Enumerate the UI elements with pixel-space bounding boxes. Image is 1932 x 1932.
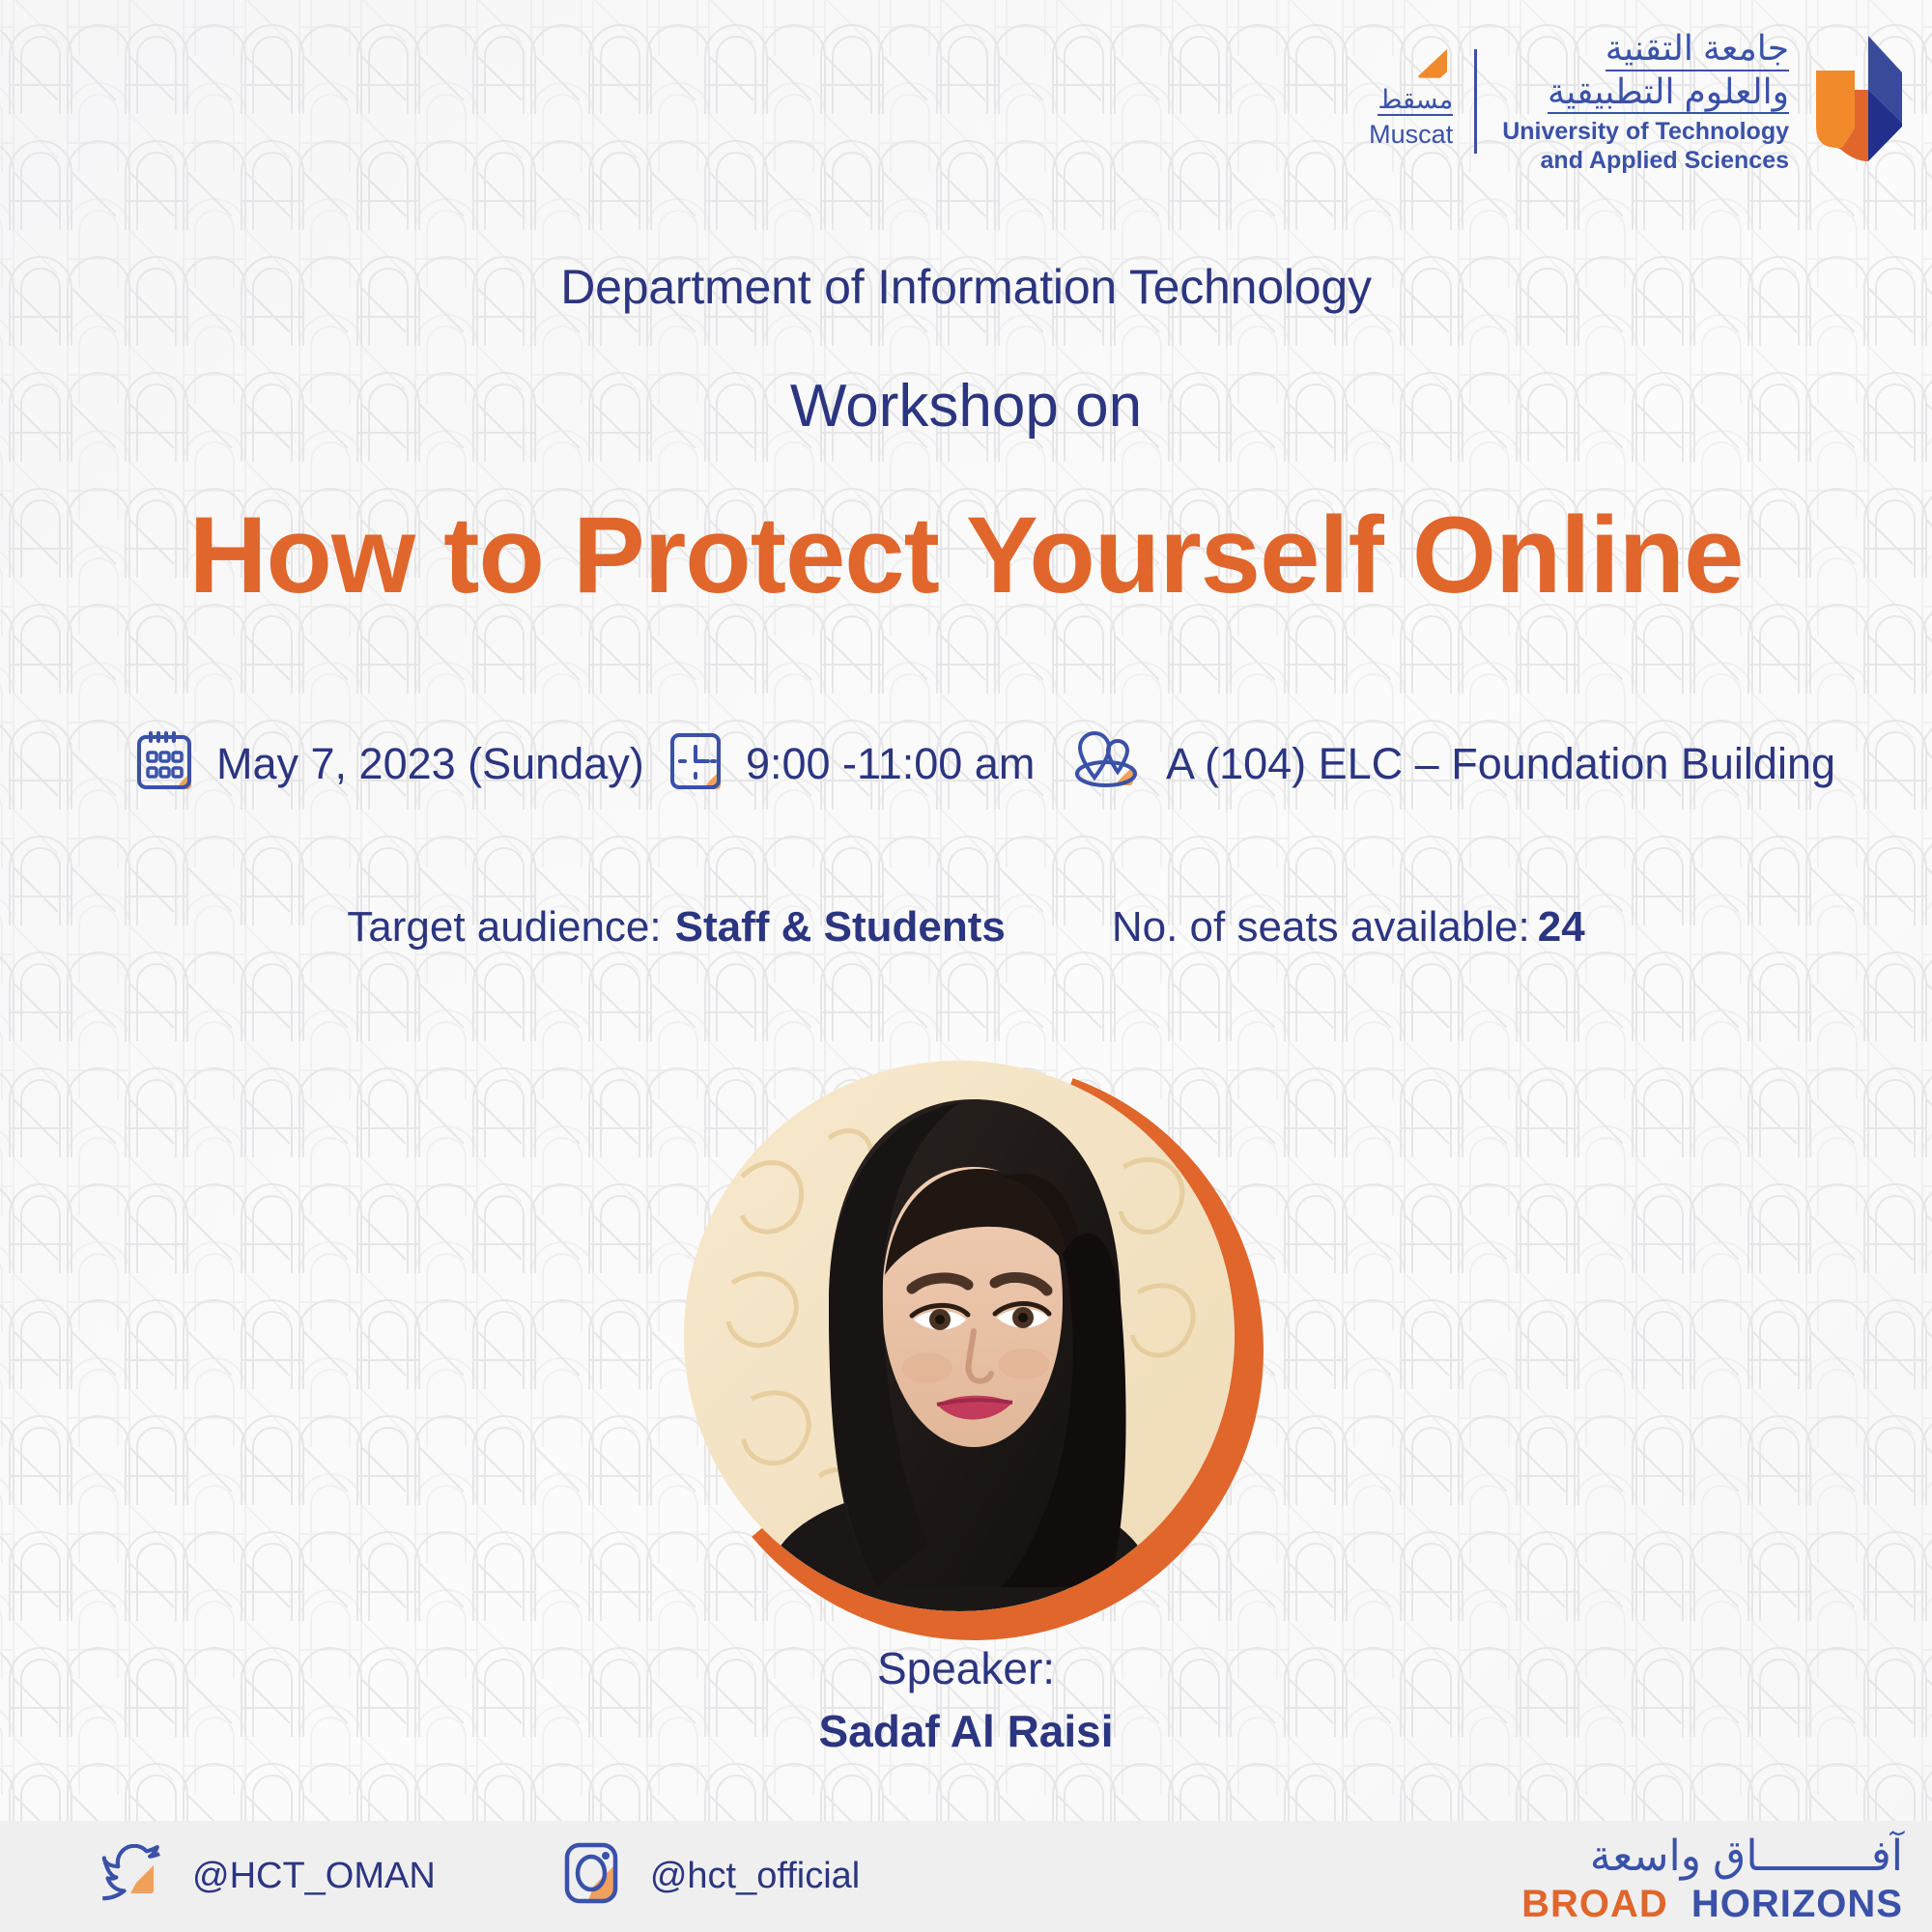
speaker-label: Speaker: (0, 1642, 1932, 1694)
poster-canvas: مسقط Muscat جامعة التقنية والعلوم التطبي… (0, 0, 1932, 1932)
utas-shield-logo-icon (1808, 34, 1905, 169)
event-time-text: 9:00 -11:00 am (746, 739, 1035, 789)
broad-horizons-english: BROAD HORIZONS (1521, 1883, 1903, 1926)
location-pin-icon (1069, 729, 1145, 798)
event-time-item: 9:00 -11:00 am (668, 729, 1035, 798)
speaker-portrait-image (684, 1061, 1235, 1611)
utas-logo: مسقط Muscat جامعة التقنية والعلوم التطبي… (1369, 29, 1905, 174)
broad-horizons-arabic-row: آفـــــــــاق واسعة (1590, 1831, 1903, 1881)
logo-campus-arabic: مسقط (1378, 86, 1453, 116)
broad-horizons-word1: BROAD (1521, 1883, 1668, 1925)
twitter-handle[interactable]: @HCT_OMAN (192, 1856, 436, 1897)
clock-icon (668, 729, 724, 798)
logo-divider (1474, 49, 1477, 154)
broad-horizons-arabic: آفـــــــــاق واسعة (1590, 1832, 1903, 1881)
footer-bar: @HCT_OMAN @hct_official آفـــــــــاق وا… (0, 1821, 1932, 1932)
social-instagram[interactable]: @hct_official (561, 1839, 860, 1914)
logo-university-names: جامعة التقنية والعلوم التطبيقية Universi… (1502, 28, 1789, 175)
broad-horizons-word2: HORIZONS (1691, 1883, 1903, 1925)
calendar-icon (135, 729, 195, 798)
event-date-item: May 7, 2023 (Sunday) (135, 729, 644, 798)
audience-seats-row: Target audience: Staff & Students No. of… (0, 903, 1932, 952)
logo-university-arabic-line1: جامعة التقنية (1605, 28, 1789, 71)
department-title: Department of Information Technology (0, 259, 1932, 315)
speaker-photo-wrapper (684, 1061, 1264, 1640)
twitter-icon[interactable] (101, 1844, 167, 1909)
broad-horizons-logo: آفـــــــــاق واسعة BROAD HORIZONS (1521, 1831, 1903, 1926)
event-info-row: May 7, 2023 (Sunday) 9:00 -11:00 am (135, 729, 1835, 798)
workshop-title: How to Protect Yourself Online (0, 493, 1932, 617)
instagram-handle[interactable]: @hct_official (650, 1856, 860, 1897)
event-date-text: May 7, 2023 (Sunday) (216, 739, 644, 789)
audience-value: Staff & Students (675, 903, 1006, 952)
avatar (684, 1061, 1235, 1611)
logo-university-english-line2: and Applied Sciences (1541, 146, 1789, 175)
logo-campus-english: Muscat (1369, 119, 1453, 150)
pretitle: Workshop on (0, 372, 1932, 440)
logo-campus-block: مسقط Muscat (1369, 49, 1453, 155)
event-location-item: A (104) ELC – Foundation Building (1069, 729, 1835, 798)
social-twitter[interactable]: @HCT_OMAN (101, 1844, 436, 1909)
audience-label: Target audience: (347, 903, 661, 952)
seats-value: 24 (1538, 903, 1585, 952)
seats-label: No. of seats available: (1112, 903, 1530, 952)
logo-university-english-line1: University of Technology (1502, 117, 1789, 146)
logo-university-arabic-line2: والعلوم التطبيقية (1548, 71, 1789, 114)
orange-corner-icon (1416, 49, 1447, 78)
event-location-text: A (104) ELC – Foundation Building (1166, 739, 1835, 789)
speaker-name: Sadaf Al Raisi (0, 1705, 1932, 1757)
instagram-icon[interactable] (561, 1839, 625, 1914)
